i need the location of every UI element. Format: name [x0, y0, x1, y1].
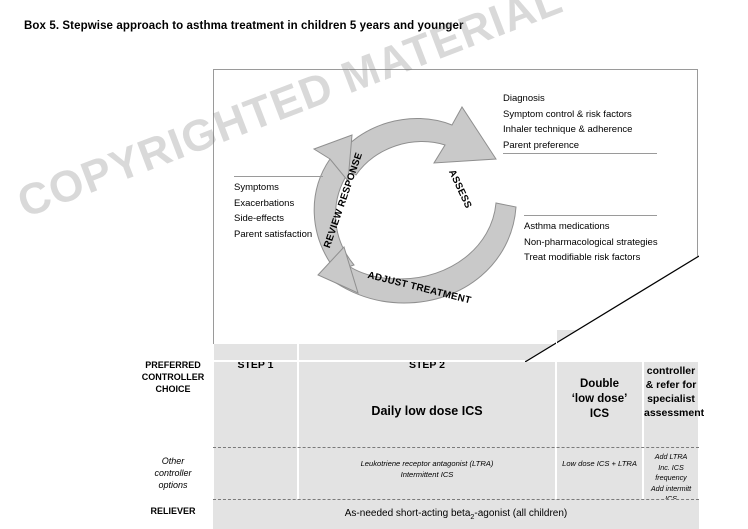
- assess-item: Symptom control & risk factors: [503, 107, 632, 123]
- review-item: Exacerbations: [234, 196, 312, 212]
- assess-items: Diagnosis Symptom control & risk factors…: [503, 91, 632, 153]
- divider-step1-step2: [298, 344, 299, 499]
- review-divider: [234, 176, 323, 177]
- step2-body: Daily low dose ICS: [299, 404, 555, 418]
- other-step4-text: Add LTRA Inc. ICS frequency Add intermit…: [644, 452, 698, 505]
- assess-divider: [503, 153, 657, 154]
- other-step4-line1: Add LTRA: [644, 452, 698, 463]
- row-label-other-controller-options: Other controller options: [133, 455, 213, 491]
- cell-other-step1: [213, 447, 298, 499]
- other-step2-line1: Leukotriene receptor antagonist (LTRA): [299, 458, 555, 469]
- review-items: Symptoms Exacerbations Side-effects Pare…: [234, 180, 312, 242]
- diagram-page: Box 5. Stepwise approach to asthma treat…: [0, 0, 748, 529]
- step4-body-line2: controller: [644, 364, 698, 378]
- other-line2: controller: [133, 467, 213, 479]
- review-item: Side-effects: [234, 211, 312, 227]
- reliever-text: As-needed short-acting beta2-agonist (al…: [345, 508, 567, 521]
- other-line3: options: [133, 479, 213, 491]
- step4-body-line4: specialist: [644, 392, 698, 406]
- step3-body: Double ‘low dose’ ICS: [557, 377, 642, 422]
- assess-item: Parent preference: [503, 138, 632, 154]
- other-step2-line2: Intermittent ICS: [299, 469, 555, 480]
- preferred-line2: CONTROLLER: [133, 371, 213, 383]
- other-step3-text: Low dose ICS + LTRA: [557, 458, 642, 469]
- preferred-line3: CHOICE: [133, 383, 213, 395]
- cell-other-step4: Add LTRA Inc. ICS frequency Add intermit…: [643, 447, 699, 499]
- preferred-line1: PREFERRED: [133, 359, 213, 371]
- other-step4-line2: Inc. ICS: [644, 463, 698, 474]
- adjust-item: Asthma medications: [524, 219, 658, 235]
- review-item: Symptoms: [234, 180, 312, 196]
- other-step4-line3: frequency: [644, 473, 698, 484]
- adjust-items: Asthma medications Non-pharmacological s…: [524, 219, 658, 266]
- divider-step2-step3: [556, 330, 557, 499]
- step4-body-line5: assessment: [644, 406, 698, 420]
- step3-body-line1: Double: [557, 377, 642, 392]
- separator-other-options: [213, 447, 699, 448]
- cell-other-step2: Leukotriene receptor antagonist (LTRA) I…: [298, 447, 556, 499]
- review-item: Parent satisfaction: [234, 227, 312, 243]
- cell-other-step3: Low dose ICS + LTRA: [556, 447, 643, 499]
- row-label-preferred-controller-choice: PREFERRED CONTROLLER CHOICE: [133, 359, 213, 395]
- adjust-divider: [524, 215, 657, 216]
- page-title: Box 5. Stepwise approach to asthma treat…: [24, 20, 464, 32]
- adjust-item: Non-pharmacological strategies: [524, 235, 658, 251]
- step4-body-line3: & refer for: [644, 378, 698, 392]
- divider-step3-step4: [643, 296, 644, 499]
- step3-body-line3: ICS: [557, 407, 642, 422]
- cell-reliever: As-needed short-acting beta2-agonist (al…: [213, 499, 699, 529]
- separator-reliever: [213, 499, 699, 500]
- step3-body-line2: ‘low dose’: [557, 392, 642, 407]
- assess-item: Diagnosis: [503, 91, 632, 107]
- assess-item: Inhaler technique & adherence: [503, 122, 632, 138]
- row-label-reliever: RELIEVER: [133, 505, 213, 517]
- other-step2-text: Leukotriene receptor antagonist (LTRA) I…: [299, 458, 555, 480]
- other-line1: Other: [133, 455, 213, 467]
- adjust-item: Treat modifiable risk factors: [524, 250, 658, 266]
